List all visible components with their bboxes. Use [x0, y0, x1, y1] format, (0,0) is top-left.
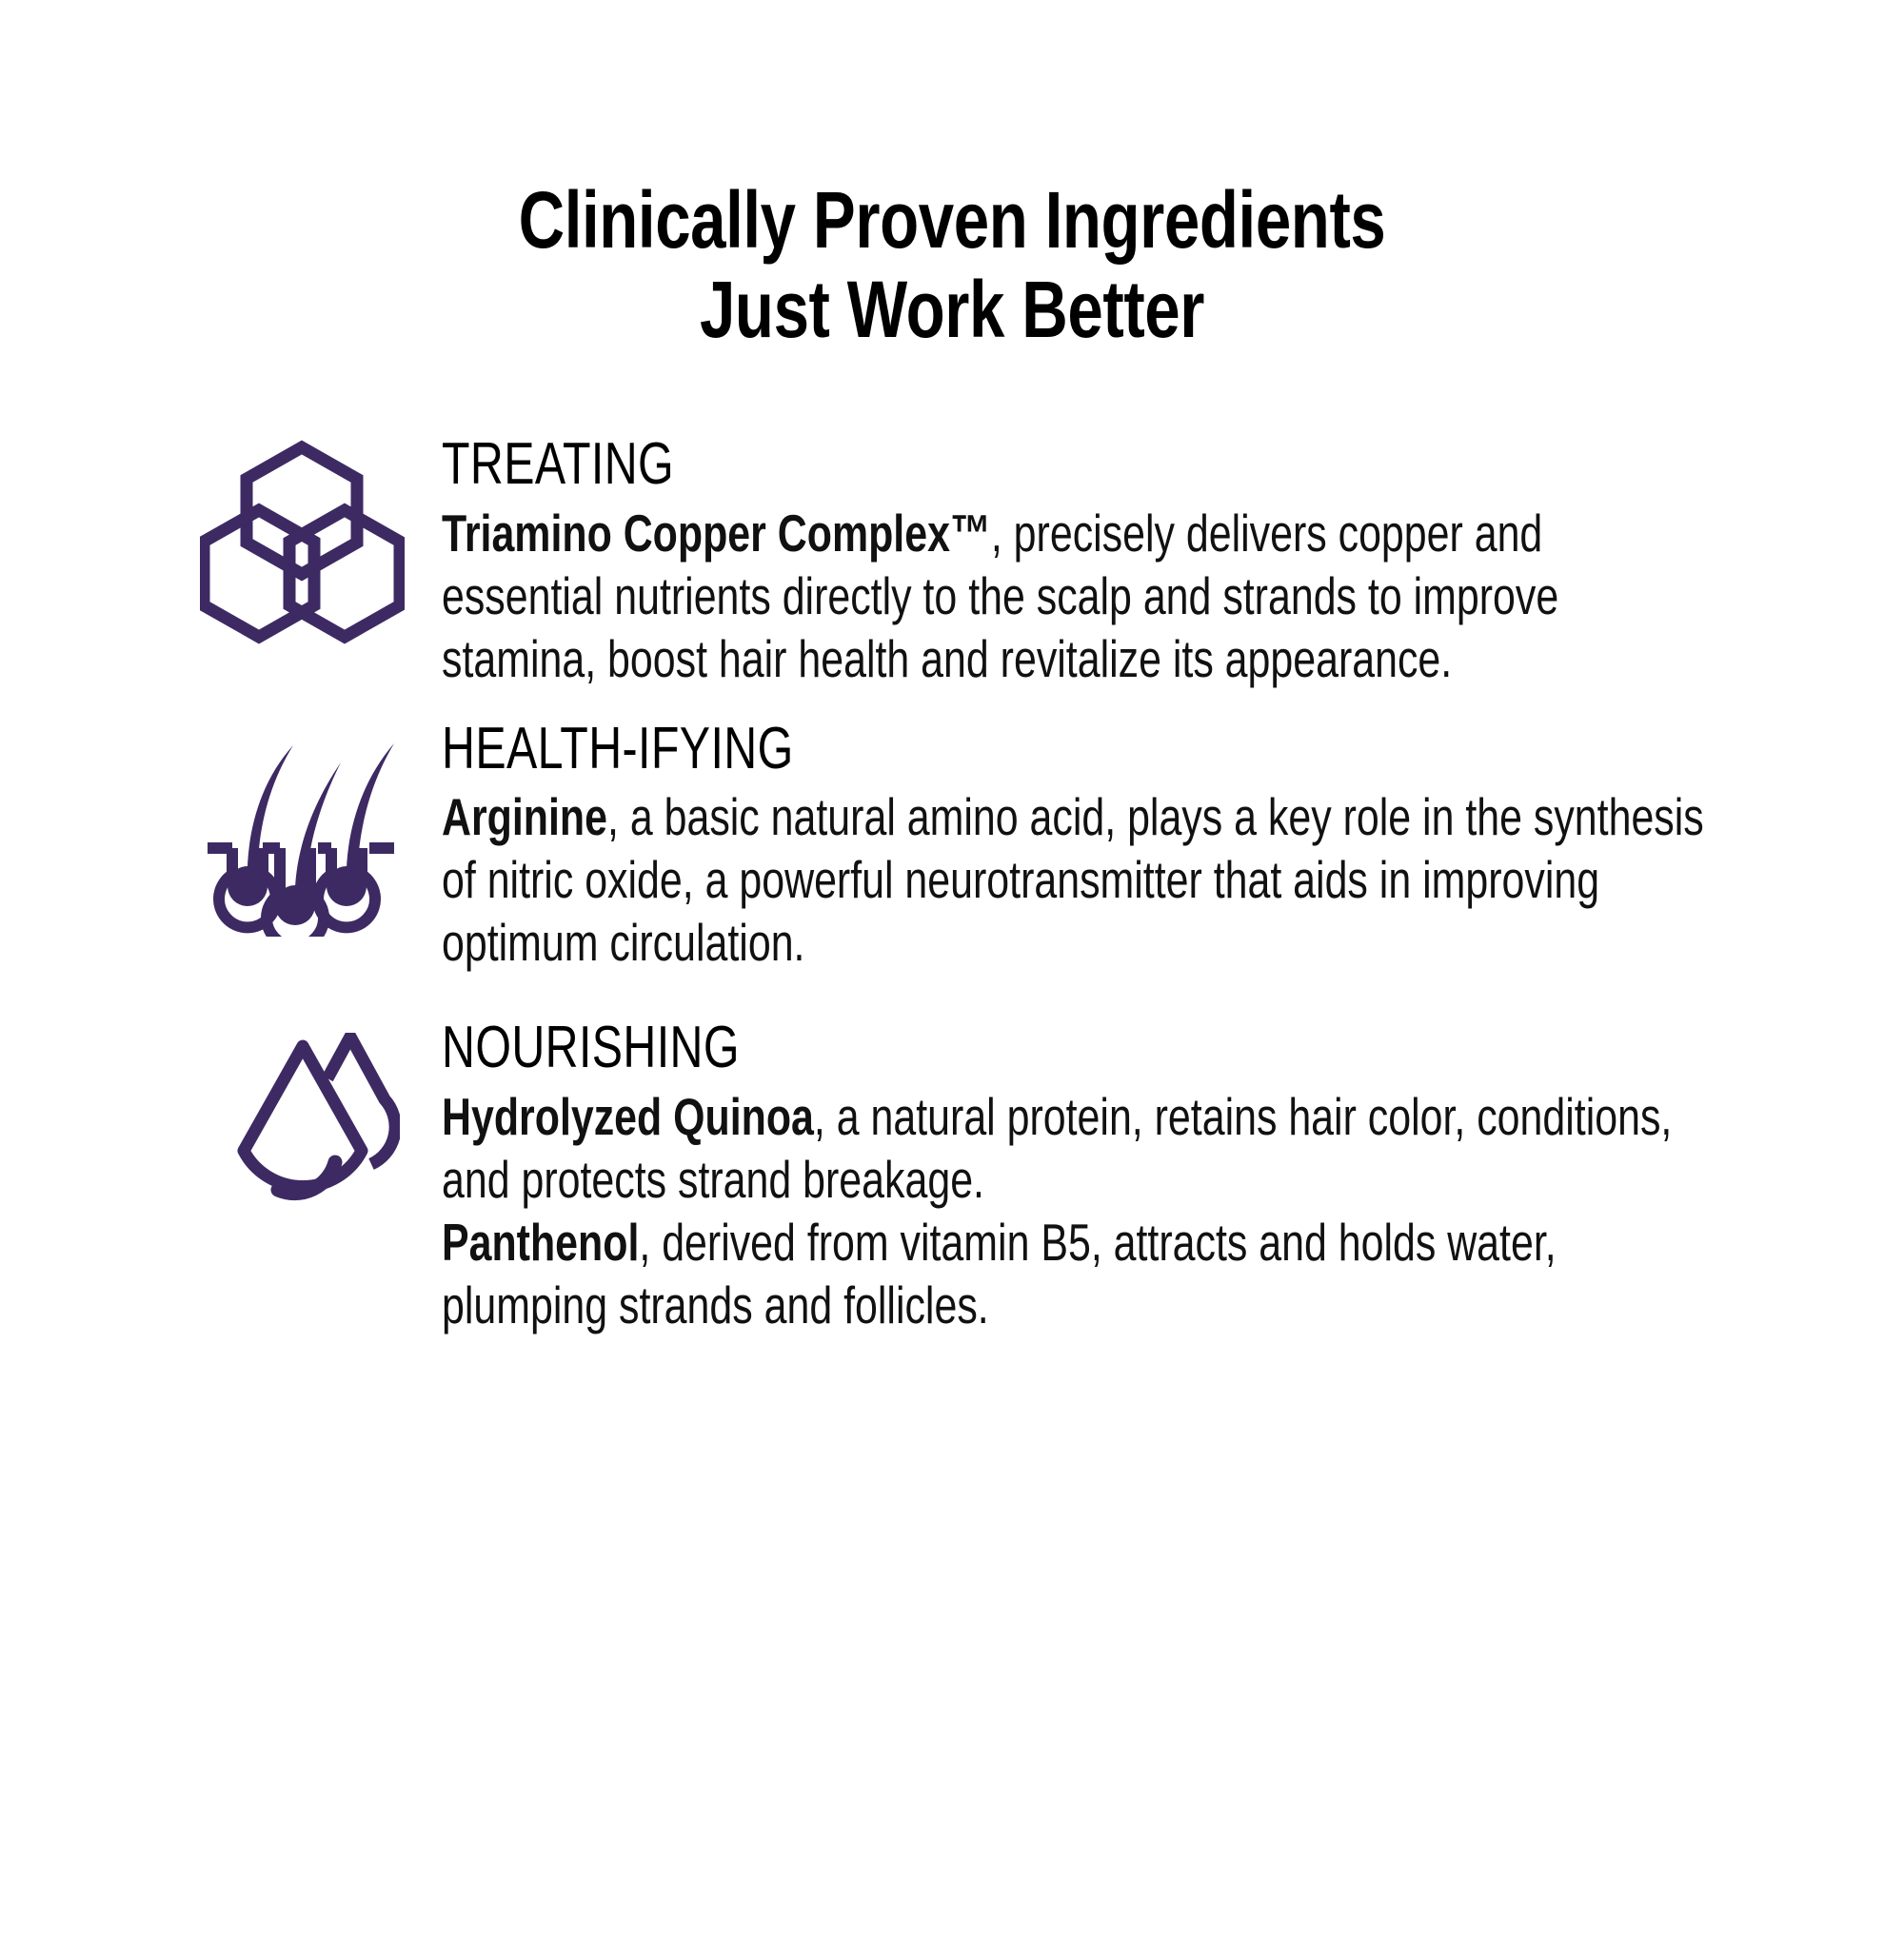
ingredient-description: , a basic natural amino acid, plays a ke… [442, 787, 1704, 972]
feature-icon-nourishing [200, 1018, 438, 1233]
feature-body-nourishing: NOURISHING Hydrolyzed Quinoa, a natural … [438, 1018, 1708, 1335]
feature-heading-health-ifying: HEALTH-IFYING [442, 719, 1706, 780]
ingredient-name: Triamino Copper Complex™ [442, 504, 991, 563]
feature-item-health-ifying: HEALTH-IFYING Arginine, a basic natural … [200, 719, 1790, 974]
feature-list: TREATING Triamino Copper Complex™, preci… [0, 434, 1904, 1335]
feature-paragraph: Triamino Copper Complex™, precisely deli… [442, 502, 1706, 690]
feature-paragraph: Panthenol, derived from vitamin B5, attr… [442, 1211, 1706, 1336]
feature-paragraph: Arginine, a basic natural amino acid, pl… [442, 785, 1706, 974]
page-title: Clinically Proven Ingredients Just Work … [190, 53, 1714, 354]
feature-paragraph: Hydrolyzed Quinoa, a natural protein, re… [442, 1085, 1706, 1211]
ingredient-name: Panthenol [442, 1213, 639, 1272]
interlocking-hexagons-icon [200, 440, 405, 644]
droplet-highlight-icon [278, 1162, 335, 1194]
ingredients-infographic: Clinically Proven Ingredients Just Work … [0, 53, 1904, 1957]
feature-heading-treating: TREATING [442, 434, 1706, 495]
feature-body-treating: TREATING Triamino Copper Complex™, preci… [438, 434, 1708, 689]
feature-heading-nourishing: NOURISHING [442, 1018, 1706, 1078]
ingredient-name: Arginine [442, 787, 607, 846]
hair-follicles-icon [206, 741, 396, 937]
ingredient-name: Hydrolyzed Quinoa [442, 1087, 814, 1146]
feature-body-health-ifying: HEALTH-IFYING Arginine, a basic natural … [438, 719, 1708, 974]
feature-item-treating: TREATING Triamino Copper Complex™, preci… [200, 434, 1790, 689]
feature-icon-treating [200, 434, 438, 644]
feature-item-nourishing: NOURISHING Hydrolyzed Quinoa, a natural … [200, 1018, 1790, 1335]
water-droplet-icon [228, 1033, 400, 1233]
feature-icon-health-ifying [200, 719, 438, 937]
